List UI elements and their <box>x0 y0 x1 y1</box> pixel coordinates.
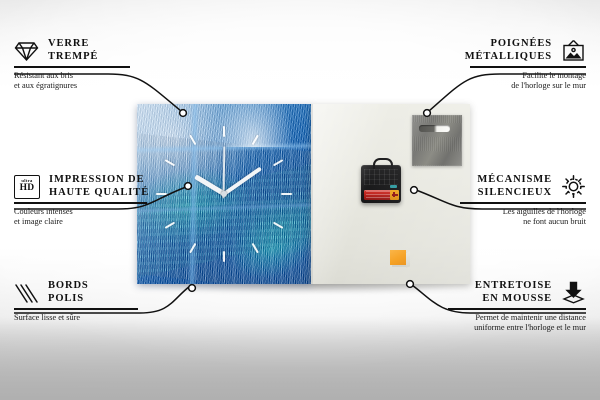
callout-description: Facilite le montage de l'horloge sur le … <box>468 71 586 92</box>
product-photo <box>137 104 470 284</box>
callout-rule <box>14 66 130 68</box>
diamond-icon <box>14 40 39 62</box>
clock-back-panel <box>311 104 470 284</box>
callout-rule <box>14 308 138 310</box>
callout-title: MÉCANISME SILENCIEUX <box>477 174 552 199</box>
callout-description: Les aiguilles de l'horloge ne font aucun… <box>458 207 586 228</box>
clock-hands <box>137 104 311 284</box>
polished-edges-icon <box>14 282 39 304</box>
callout-description: Couleurs intenses et image claire <box>14 207 149 228</box>
callout-title: ENTRETOISE EN MOUSSE <box>475 280 552 305</box>
ultra-hd-badge-icon: ultra HD <box>14 175 40 199</box>
clock-center-pivot <box>221 191 227 197</box>
callout-rule <box>470 66 586 68</box>
gear-icon <box>561 174 586 199</box>
callout-description: Surface lisse et sûre <box>14 313 140 323</box>
clock-front-panel <box>137 104 311 284</box>
callout-title: IMPRESSION DE HAUTE QUALITÉ <box>49 174 149 199</box>
back-panel-sheen <box>311 104 470 284</box>
callout-title: BORDS POLIS <box>48 280 89 305</box>
callout-bords-polis[interactable]: BORDS POLIS Surface lisse et sûre <box>14 280 140 323</box>
callout-entretoise-en-mousse[interactable]: ENTRETOISE EN MOUSSE Permet de maintenir… <box>446 280 586 334</box>
callout-impression-haute-qualite[interactable]: ultra HD IMPRESSION DE HAUTE QUALITÉ Cou… <box>14 174 149 228</box>
callout-verre-trempe[interactable]: VERRE TREMPÉ Résistant aux bris et aux é… <box>14 38 132 92</box>
callout-title: VERRE TREMPÉ <box>48 38 98 63</box>
callout-rule <box>448 308 586 310</box>
callout-description: Permet de maintenir une distance uniform… <box>446 313 586 334</box>
callout-mecanisme-silencieux[interactable]: MÉCANISME SILENCIEUX Les aiguilles de l'… <box>458 174 586 228</box>
clock-minute-hand <box>223 167 262 196</box>
ultra-hd-badge-main-text: HD <box>20 184 35 194</box>
foam-spacer-arrow-icon <box>561 281 586 304</box>
callout-rule <box>460 202 586 204</box>
callout-description: Résistant aux bris et aux égratignures <box>14 71 132 92</box>
callout-title: POIGNÉES MÉTALLIQUES <box>465 38 552 63</box>
callout-rule <box>14 202 147 204</box>
callout-poignees-metalliques[interactable]: POIGNÉES MÉTALLIQUES Facilite le montage… <box>468 38 586 92</box>
infographic-canvas: VERRE TREMPÉ Résistant aux bris et aux é… <box>0 0 600 400</box>
picture-hanger-icon <box>561 39 586 62</box>
